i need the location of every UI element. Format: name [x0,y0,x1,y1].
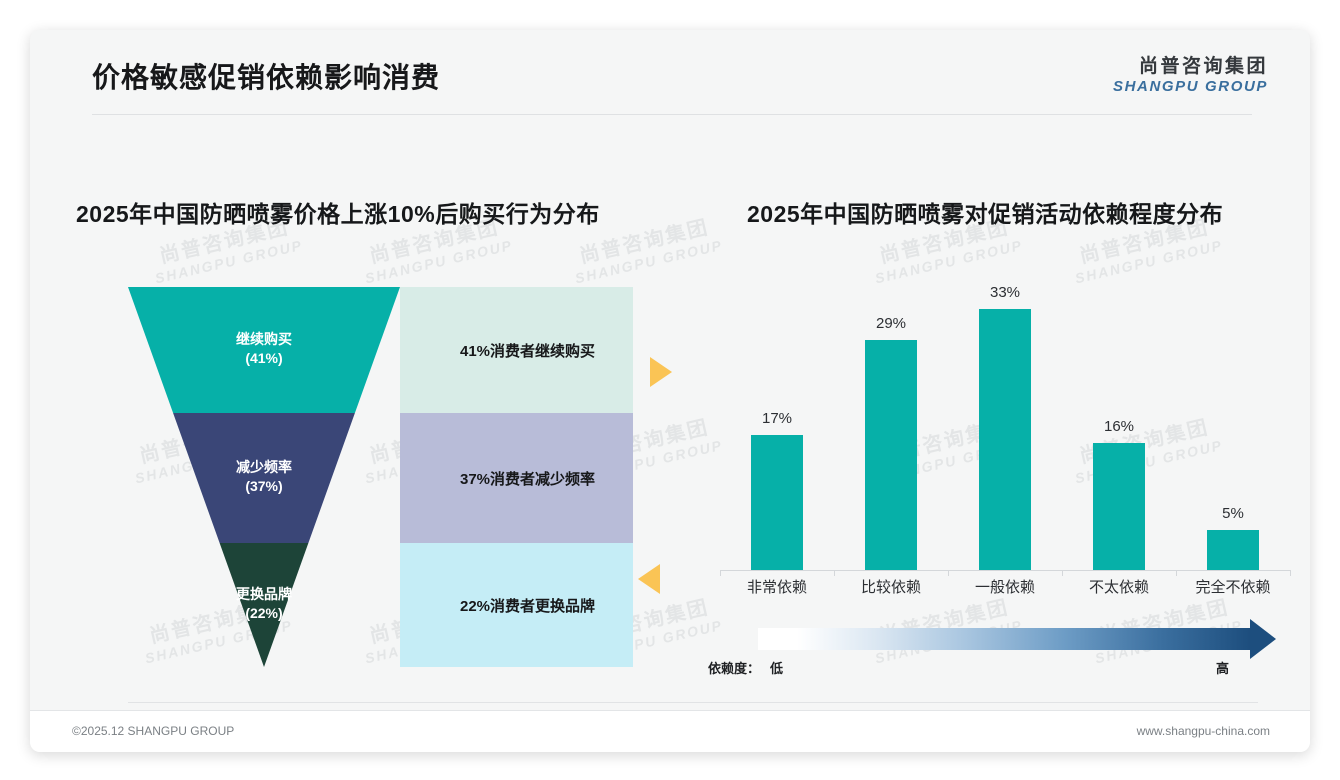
arrow-right-icon [650,357,672,387]
bar-category-label: 比较依赖 [834,576,948,597]
funnel-stage-description: 22%消费者更换品牌 [460,595,595,616]
bar-value-label: 17% [720,410,834,427]
funnel-stage-name: 更换品牌 [204,585,324,604]
bar-value-label: 33% [948,284,1062,301]
funnel-stage-label: 继续购买(41%) [204,330,324,368]
slide-card: 尚普咨询集团SHANGPU GROUP尚普咨询集团SHANGPU GROUP尚普… [30,30,1310,752]
axis-tick [1062,570,1063,576]
funnel-stage-label: 更换品牌(22%) [204,585,324,623]
page-title: 价格敏感促销依赖影响消费 [92,56,440,96]
bar-category-label: 完全不依赖 [1176,576,1290,597]
funnel-stage-name: 减少频率 [204,458,324,477]
gradient-arrow-icon [1250,619,1276,659]
bar [751,435,803,570]
right-chart-title: 2025年中国防晒喷雾对促销活动依赖程度分布 [747,195,1223,229]
funnel-stage-value: (37%) [204,477,324,496]
bar-column: 5% [1176,285,1290,570]
left-chart-title: 2025年中国防晒喷雾价格上涨10%后购买行为分布 [76,195,600,229]
bar-column: 16% [1062,285,1176,570]
bar-plot-area: 17%29%33%16%5% [720,285,1290,570]
funnel-stage-description: 37%消费者减少频率 [460,468,595,489]
logo-chinese-text: 尚普咨询集团 [1113,56,1268,78]
funnel-stage-name: 继续购买 [204,330,324,349]
bar [1093,443,1145,570]
funnel-stage-value: (41%) [204,349,324,368]
bar-category-label: 非常依赖 [720,576,834,597]
axis-tick [1176,570,1177,576]
axis-tick [948,570,949,576]
axis-tick [1290,570,1291,576]
brand-logo: 尚普咨询集团 SHANGPU GROUP [1113,56,1268,96]
arrow-left-icon [638,564,660,594]
header-divider [92,114,1252,115]
funnel-chart: 继续购买(41%)41%消费者继续购买减少频率(37%)37%消费者减少频率更换… [128,287,633,667]
bar-value-label: 16% [1062,418,1176,435]
axis-tick [834,570,835,576]
bar-value-label: 29% [834,315,948,332]
funnel-stage-value: (22%) [204,604,324,623]
footer-website: www.shangpu-china.com [1137,724,1270,738]
funnel-stage-description: 41%消费者继续购买 [460,340,595,361]
bar-category-label: 一般依赖 [948,576,1062,597]
axis-tick [720,570,721,576]
bar-category-label: 不太依赖 [1062,576,1176,597]
bar-value-label: 5% [1176,505,1290,522]
legend-high-label: 高 [1216,658,1229,677]
logo-english-text: SHANGPU GROUP [1113,78,1268,96]
gradient-bar [758,628,1250,650]
bar [1207,530,1259,570]
bar [865,340,917,570]
slide-footer: ©2025.12 SHANGPU GROUP www.shangpu-china… [30,710,1310,752]
bar-column: 33% [948,285,1062,570]
legend-low-label: 低 [770,658,783,677]
note-divider [128,702,1258,703]
bar-column: 17% [720,285,834,570]
slide-header: 价格敏感促销依赖影响消费 尚普咨询集团 SHANGPU GROUP [30,30,1310,116]
footer-copyright: ©2025.12 SHANGPU GROUP [72,724,234,738]
bar-chart: 17%29%33%16%5% [720,285,1290,575]
bar-chart-axis [720,570,1290,571]
funnel-stage-label: 减少频率(37%) [204,458,324,496]
legend-caption: 依赖度： [708,658,760,677]
dependency-gradient-legend: 依赖度： 低 高 [708,624,1290,686]
bar-column: 29% [834,285,948,570]
bar [979,309,1031,570]
